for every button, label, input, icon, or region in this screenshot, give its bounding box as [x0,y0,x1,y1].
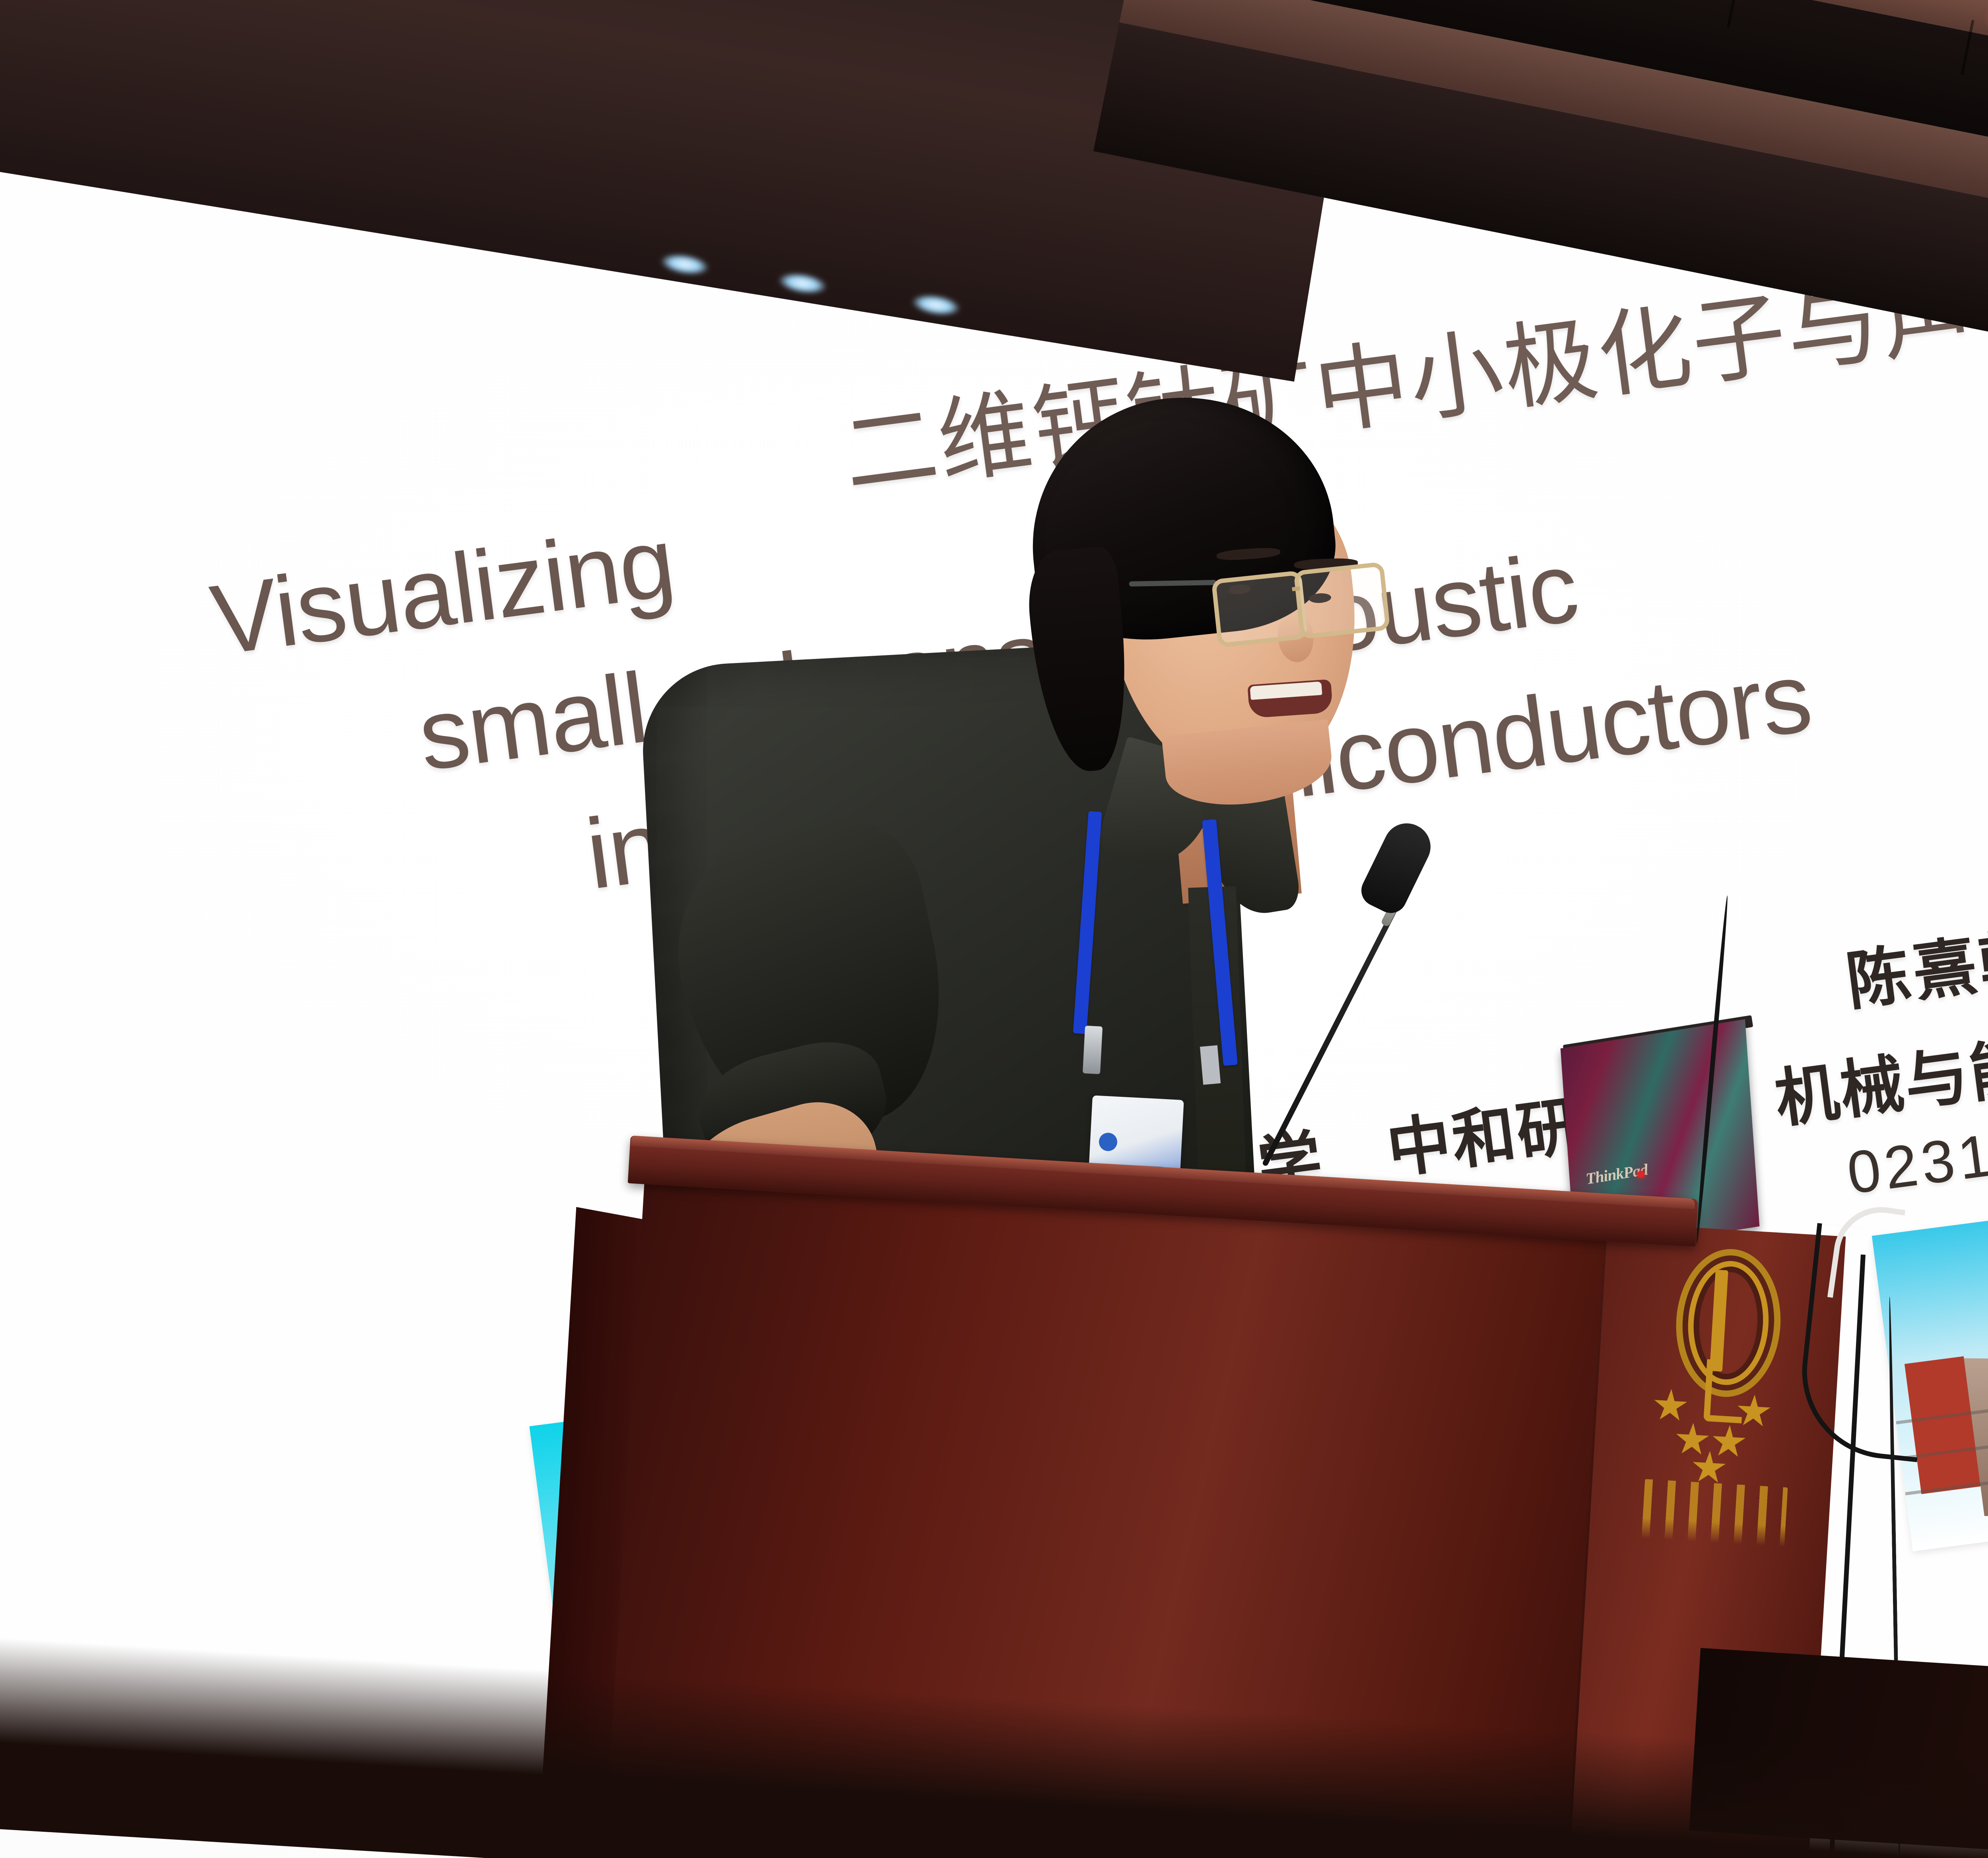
thinkpad-red-dot-icon [1637,1171,1644,1178]
crest-star-icon [1711,1424,1747,1460]
crest-hook [1703,1359,1745,1423]
crest-star-icon [1674,1422,1710,1458]
eyeglasses-lens-left [1211,570,1308,648]
eyeglasses-bridge [1292,587,1300,591]
eyeglasses-temple [1129,580,1217,587]
crest-star-icon [1652,1388,1689,1424]
crest-characters [1641,1479,1788,1547]
photograph-canvas: 二维钙钛矿中小极化子与声学声 Visualizing small polaron… [0,0,1988,1858]
speaker-mouth [1247,679,1333,718]
podium-crest-icon [1629,1240,1814,1552]
lanyard-label-patch [1200,1045,1221,1084]
badge-logo-icon [1099,1132,1118,1151]
eyeglasses-lens-right [1293,562,1390,639]
crest-star-icon [1691,1450,1727,1486]
lanyard-clip-icon [1083,1026,1103,1074]
